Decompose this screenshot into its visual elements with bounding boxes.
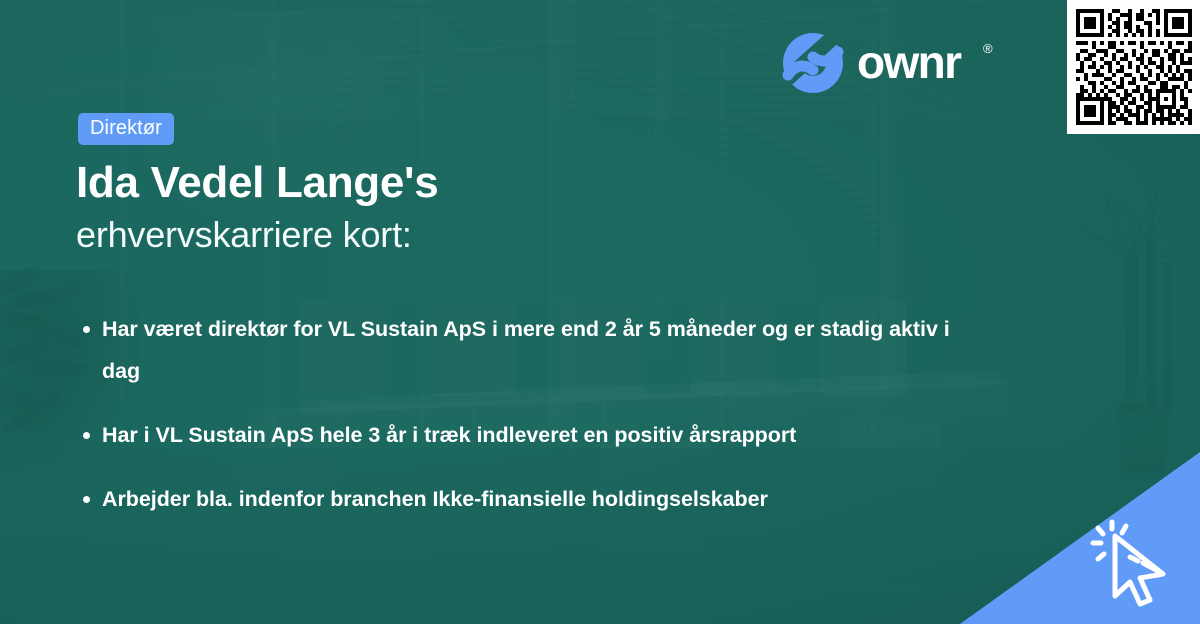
ownr-circle-swoosh-icon xyxy=(781,31,845,95)
qr-code-panel[interactable] xyxy=(1067,0,1200,134)
page-title-line1: Ida Vedel Lange's xyxy=(76,157,438,209)
list-item: Har i VL Sustain ApS hele 3 år i træk in… xyxy=(76,414,956,456)
business-profile-card: Direktør Ida Vedel Lange's erhvervskarri… xyxy=(0,0,1200,624)
page-title-line2: erhvervskarriere kort: xyxy=(76,213,412,257)
qr-code-icon[interactable] xyxy=(1076,9,1192,125)
click-cursor-icon xyxy=(1088,516,1184,612)
registered-trademark-icon: ® xyxy=(983,42,993,55)
list-item: Har været direktør for VL Sustain ApS i … xyxy=(76,308,956,392)
role-badge: Direktør xyxy=(78,113,174,145)
list-item: Arbejder bla. indenfor branchen Ikke-fin… xyxy=(76,478,956,520)
card-content: Direktør Ida Vedel Lange's erhvervskarri… xyxy=(0,0,1200,624)
ownr-logo: ownr ® xyxy=(781,31,1021,95)
career-highlights-list: Har været direktør for VL Sustain ApS i … xyxy=(76,308,956,542)
ownr-wordmark: ownr xyxy=(857,37,960,87)
